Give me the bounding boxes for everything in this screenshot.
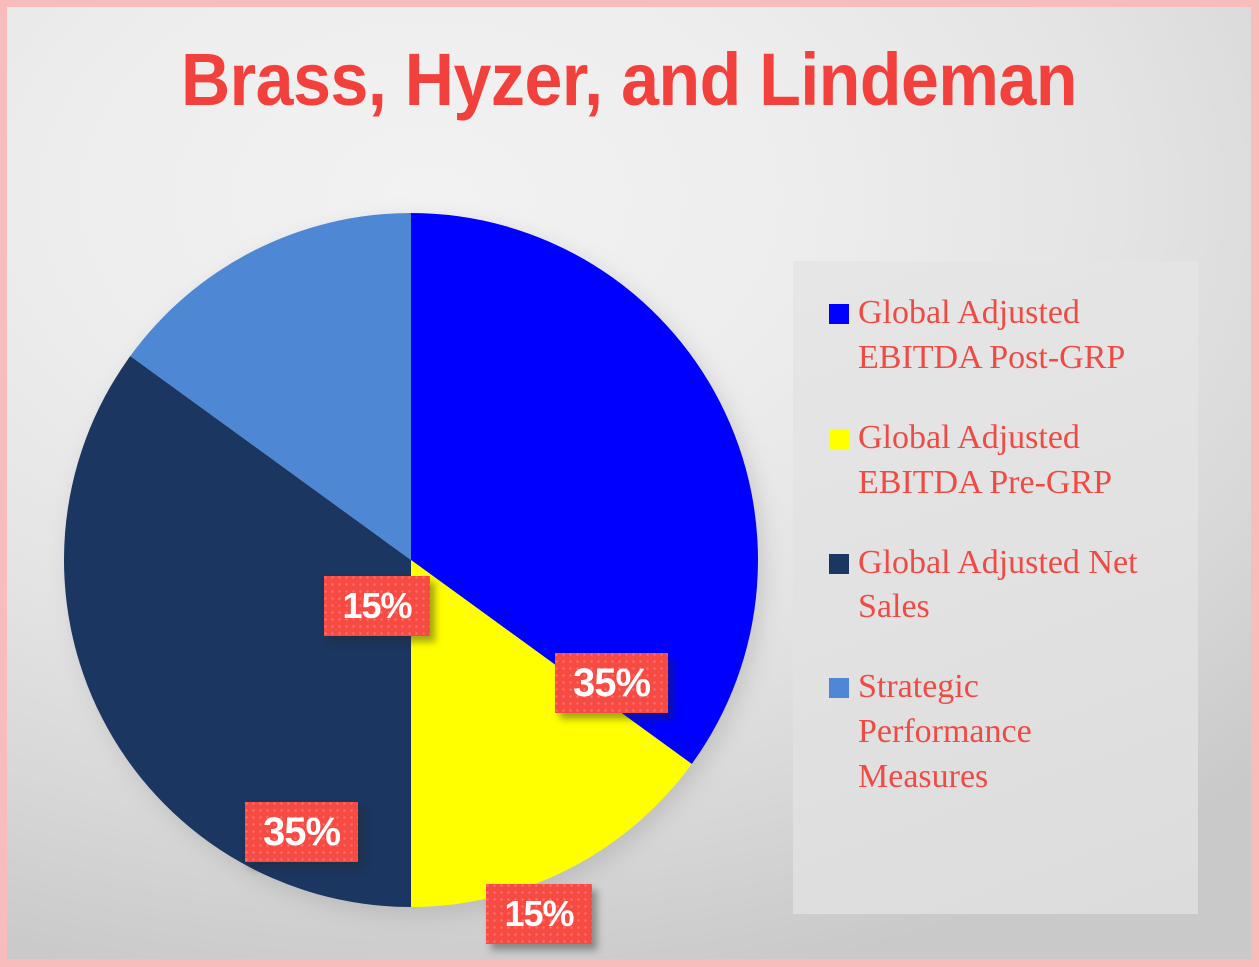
legend-swatch-icon-0: [829, 304, 849, 324]
pie-slice-label-0: 35%: [555, 653, 668, 713]
legend-item-label: Strategic Performance Measures: [858, 665, 1058, 800]
pie-chart: 35% 15% 35% 15%: [56, 205, 756, 911]
legend-swatch-icon-2: [829, 554, 849, 574]
legend-item-label: Global Adjusted EBITDA Post-GRP: [858, 291, 1178, 381]
slide-canvas: Brass, Hyzer, and Lindeman 35% 15% 35% 1…: [7, 7, 1251, 959]
legend-item-label: Global Adjusted EBITDA Pre-GRP: [858, 416, 1178, 506]
legend-item-global-adjusted-ebitda-pre-grp[interactable]: Global Adjusted EBITDA Pre-GRP: [829, 416, 1190, 506]
pie-slice-label-3: 15%: [324, 576, 430, 636]
legend-swatch-icon-1: [829, 429, 849, 449]
pie-slice-label-2: 35%: [245, 802, 358, 862]
pie-slice-label-1: 15%: [486, 884, 592, 944]
slide: Brass, Hyzer, and Lindeman 35% 15% 35% 1…: [0, 0, 1259, 967]
legend-item-global-adjusted-net-sales[interactable]: Global Adjusted Net Sales: [829, 541, 1190, 631]
legend-item-global-adjusted-ebitda-post-grp[interactable]: Global Adjusted EBITDA Post-GRP: [829, 291, 1190, 381]
legend-swatch-icon-3: [829, 678, 849, 698]
chart-legend: Global Adjusted EBITDA Post-GRP Global A…: [793, 261, 1198, 914]
legend-item-label: Global Adjusted Net Sales: [858, 541, 1190, 631]
page-title: Brass, Hyzer, and Lindeman: [57, 41, 1201, 119]
legend-item-strategic-performance-measures[interactable]: Strategic Performance Measures: [829, 665, 1190, 800]
pie-chart-svg: [64, 213, 758, 907]
